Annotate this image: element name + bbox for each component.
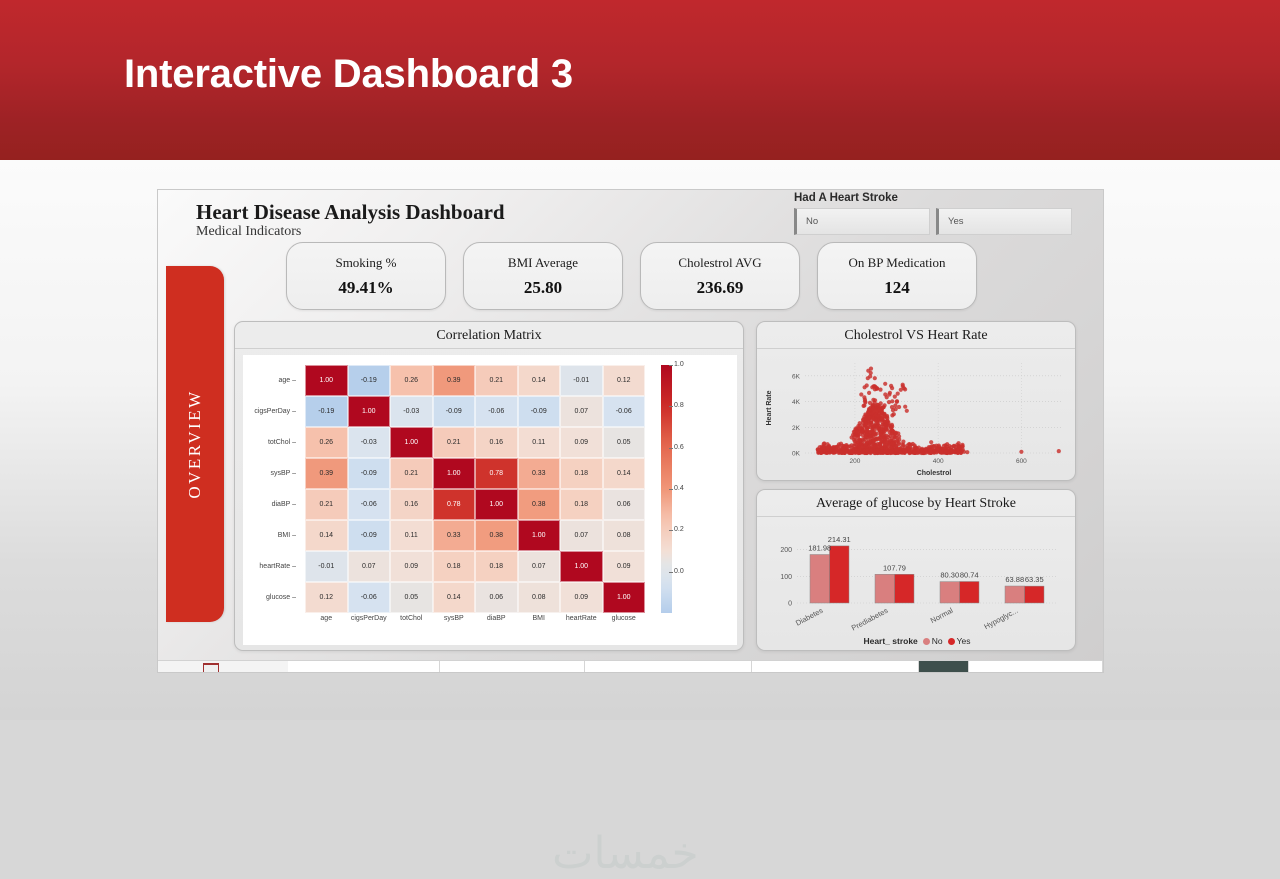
bar-data-label: 63.35	[1025, 575, 1044, 584]
heatmap-cell[interactable]: 0.14	[433, 582, 476, 613]
kpi-label: On BP Medication	[848, 255, 945, 271]
heatmap-cell[interactable]: 0.08	[518, 582, 561, 613]
page-tab[interactable]	[440, 661, 585, 672]
slide-title: Interactive Dashboard 3	[124, 52, 573, 97]
bar-y-tick: 100	[780, 574, 792, 581]
heatmap-cell[interactable]: 0.11	[390, 520, 433, 551]
bar-rect[interactable]	[1005, 586, 1025, 603]
heatmap-cell[interactable]: 0.05	[603, 427, 646, 458]
legend-label: Yes	[957, 636, 971, 646]
kpi-value: 124	[884, 278, 910, 298]
scatter-point	[905, 409, 909, 413]
heatmap-cell[interactable]: -0.09	[348, 520, 391, 551]
scatter-point	[863, 445, 867, 449]
bar-data-label: 80.74	[960, 570, 979, 579]
heatmap-cell[interactable]: 1.00	[603, 582, 646, 613]
heatmap-x-label: sysBP	[433, 615, 476, 631]
page-tab[interactable]	[288, 661, 440, 672]
colorbar-tick-label: 0.2	[674, 526, 684, 533]
heatmap-cell[interactable]: 0.78	[475, 458, 518, 489]
kpi-value: 25.80	[524, 278, 562, 298]
sidebar-item-label: OVERVIEW	[185, 389, 205, 498]
scatter-point	[879, 401, 883, 405]
scatter-point	[825, 448, 829, 452]
scatter-point	[822, 441, 826, 445]
slicer-option-label: Yes	[948, 216, 964, 227]
powerbi-logo-icon	[158, 661, 288, 672]
heatmap-cell[interactable]: 0.33	[433, 520, 476, 551]
scatter-point	[831, 445, 835, 449]
scatter-point	[871, 410, 875, 414]
scatter-point	[913, 450, 917, 454]
scatter-point	[859, 392, 863, 396]
heatmap-y-label: diaBP –	[243, 489, 301, 520]
scatter-point	[858, 446, 862, 450]
heatmap-cell[interactable]: -0.19	[305, 396, 348, 427]
scatter-point	[868, 401, 872, 405]
kpi-card-cholestrol[interactable]: Cholestrol AVG 236.69	[640, 242, 800, 310]
scatter-point	[929, 448, 933, 452]
bar-rect[interactable]	[875, 574, 895, 603]
scatter-point	[835, 445, 839, 449]
heatmap-cell[interactable]: 0.18	[475, 551, 518, 582]
scatter-point	[896, 392, 900, 396]
heatmap-cell[interactable]: 0.16	[475, 427, 518, 458]
heatmap-x-axis-labels: agecigsPerDaytotCholsysBPdiaBPBMIheartRa…	[305, 615, 645, 631]
slicer-option-no[interactable]: No	[794, 208, 930, 235]
bar-data-label: 107.79	[883, 563, 906, 572]
slicer-button-group: No Yes	[794, 208, 1072, 235]
heatmap-cell[interactable]: 0.16	[390, 489, 433, 520]
scatter-point	[864, 422, 868, 426]
scatter-plot: 0K2K4K6K200400600CholestrolHeart Rate	[757, 349, 1076, 481]
heatmap-cell[interactable]: 0.26	[305, 427, 348, 458]
scatter-point	[839, 442, 843, 446]
heatmap-cell[interactable]: 0.09	[390, 551, 433, 582]
scatter-point	[883, 436, 887, 440]
bar-rect[interactable]	[940, 582, 960, 603]
heatmap-cell[interactable]: -0.09	[348, 458, 391, 489]
legend-entry-no[interactable]: No	[923, 636, 943, 646]
heatmap-x-label: age	[305, 615, 348, 631]
bar-rect[interactable]	[960, 582, 980, 604]
page-tab[interactable]	[969, 661, 1103, 672]
page-tab[interactable]	[585, 661, 752, 672]
scatter-point	[861, 417, 865, 421]
heatmap-cell[interactable]: 1.00	[433, 458, 476, 489]
scatter-point	[873, 387, 877, 391]
sidebar-item-overview[interactable]: OVERVIEW	[166, 266, 224, 622]
scatter-y-tick: 0K	[792, 451, 801, 458]
heatmap-y-axis-labels: age –cigsPerDay –totChol –sysBP –diaBP –…	[243, 365, 301, 613]
scatter-x-tick: 600	[1016, 458, 1027, 465]
heatmap-cell[interactable]: 0.12	[603, 365, 646, 396]
scatter-point	[890, 399, 894, 403]
heatmap-cell[interactable]: 0.06	[603, 489, 646, 520]
scatter-point	[865, 383, 869, 387]
scatter-point	[952, 444, 956, 448]
slide-header-banner: Interactive Dashboard 3	[0, 0, 1280, 160]
scatter-point	[890, 413, 894, 417]
scatter-x-tick: 200	[850, 458, 861, 465]
powerbi-page-tabstrip	[158, 660, 1103, 672]
scatter-point	[871, 434, 875, 438]
colorbar-tick-label: 1.0	[674, 361, 684, 368]
heatmap-cell[interactable]: 1.00	[305, 365, 348, 396]
bar-category-label: Diabetes	[794, 606, 825, 628]
scatter-point	[894, 407, 898, 411]
scatter-point	[895, 399, 899, 403]
scatter-point	[868, 374, 872, 378]
heatmap-cell[interactable]: -0.06	[348, 489, 391, 520]
heatmap-y-label: glucose –	[243, 582, 301, 613]
scatter-x-axis-title: Cholestrol	[917, 470, 952, 477]
scatter-point	[965, 450, 969, 454]
heatmap-y-label: age –	[243, 365, 301, 396]
scatter-point	[856, 434, 860, 438]
slicer-title: Had A Heart Stroke	[794, 192, 1072, 204]
scatter-point	[858, 424, 862, 428]
scatter-point	[924, 448, 928, 452]
bar-visual[interactable]: Average of glucose by Heart Stroke 01002…	[756, 489, 1076, 651]
scatter-point	[875, 420, 879, 424]
bar-rect[interactable]	[1025, 586, 1045, 603]
slicer-option-yes[interactable]: Yes	[936, 208, 1072, 235]
scatter-y-tick: 2K	[792, 425, 801, 432]
heatmap-cell[interactable]: 1.00	[390, 427, 433, 458]
heatmap-cell[interactable]: 0.05	[390, 582, 433, 613]
heatmap-cell[interactable]: 0.21	[305, 489, 348, 520]
scatter-point	[894, 431, 898, 435]
heatmap-cell[interactable]: 0.39	[433, 365, 476, 396]
scatter-point	[873, 376, 877, 380]
scatter-point	[960, 444, 964, 448]
scatter-point	[903, 449, 907, 453]
legend-swatch-icon	[923, 638, 930, 645]
scatter-point	[863, 435, 867, 439]
scatter-point	[915, 446, 919, 450]
bar-rect[interactable]	[810, 555, 830, 604]
heatmap-cell[interactable]: 0.21	[475, 365, 518, 396]
dashboard-canvas: Heart Disease Analysis Dashboard Medical…	[158, 190, 1103, 662]
scatter-point	[884, 449, 888, 453]
page-tab[interactable]	[752, 661, 919, 672]
scatter-point	[949, 450, 953, 454]
bar-y-tick: 200	[780, 547, 792, 554]
scatter-point	[911, 442, 915, 446]
heatmap-cell[interactable]: 0.18	[560, 458, 603, 489]
heatmap-cell[interactable]: 0.07	[560, 396, 603, 427]
kpi-label: Cholestrol AVG	[678, 255, 761, 271]
heatmap-cell[interactable]: 0.09	[560, 582, 603, 613]
heatmap-cell[interactable]: 0.38	[475, 520, 518, 551]
bar-category-label: Hypoglyc...	[982, 606, 1019, 631]
scatter-point	[880, 416, 884, 420]
heatmap-x-label: cigsPerDay	[348, 615, 391, 631]
bar-plot: 0100200181.98214.31Diabetes107.79Prediab…	[757, 517, 1076, 651]
legend-entry-yes[interactable]: Yes	[948, 636, 971, 646]
dashboard-subtitle: Medical Indicators	[196, 224, 301, 240]
bar-rect[interactable]	[895, 574, 915, 603]
scatter-point	[906, 446, 910, 450]
legend-swatch-icon	[948, 638, 955, 645]
heatmap-cell[interactable]: 0.07	[560, 520, 603, 551]
heatmap-cell[interactable]: -0.01	[560, 365, 603, 396]
scatter-point	[833, 450, 837, 454]
scatter-point	[869, 449, 873, 453]
heatmap-cell[interactable]: 0.14	[518, 365, 561, 396]
heatmap-cell[interactable]: 0.07	[348, 551, 391, 582]
scatter-point	[890, 386, 894, 390]
scatter-point	[895, 447, 899, 451]
heatmap-cell[interactable]: 0.14	[305, 520, 348, 551]
colorbar-tick-label: 0.4	[674, 485, 684, 492]
scatter-point	[917, 450, 921, 454]
heatmap-cell[interactable]: -0.09	[518, 396, 561, 427]
bar-data-label: 214.31	[828, 535, 851, 544]
scatter-point	[867, 391, 871, 395]
heatmap-x-label: totChol	[390, 615, 433, 631]
kpi-label: BMI Average	[508, 255, 578, 271]
scatter-point	[870, 430, 874, 434]
heatmap-cell[interactable]: 1.00	[348, 396, 391, 427]
powerbi-window: Heart Disease Analysis Dashboard Medical…	[158, 190, 1103, 672]
scatter-point	[885, 414, 889, 418]
scatter-x-tick: 400	[933, 458, 944, 465]
scatter-point	[888, 391, 892, 395]
heatmap-cell[interactable]: -0.19	[348, 365, 391, 396]
scatter-point	[890, 451, 894, 455]
scatter-point	[821, 446, 825, 450]
heatmap-cell[interactable]: 0.11	[518, 427, 561, 458]
heatmap-cell[interactable]: 1.00	[518, 520, 561, 551]
kpi-value: 236.69	[697, 278, 744, 298]
scatter-point	[929, 440, 933, 444]
scatter-point	[875, 424, 879, 428]
scatter-y-tick: 6K	[792, 373, 801, 380]
scatter-point	[872, 444, 876, 448]
scatter-point	[869, 425, 873, 429]
colorbar-tick-label: 0.0	[674, 568, 684, 575]
heatmap-cell[interactable]: 1.00	[475, 489, 518, 520]
scatter-point	[1057, 449, 1061, 453]
heatmap-cell[interactable]: 0.78	[433, 489, 476, 520]
bar-category-label: Normal	[929, 606, 955, 625]
colorbar-tick-label: 0.6	[674, 444, 684, 451]
kpi-card-row: Smoking % 49.41% BMI Average 25.80 Chole…	[286, 242, 986, 310]
scatter-point	[881, 423, 885, 427]
bar-data-label: 63.88	[1005, 575, 1024, 584]
heatmap-cell[interactable]: 0.33	[518, 458, 561, 489]
scatter-point	[860, 429, 864, 433]
colorbar-tick-label: 0.8	[674, 402, 684, 409]
heatmap-cell[interactable]: -0.09	[433, 396, 476, 427]
scatter-y-tick: 4K	[792, 399, 801, 406]
heatmap-y-label: BMI –	[243, 520, 301, 551]
kpi-label: Smoking %	[335, 255, 396, 271]
heatmap-cell[interactable]: 0.39	[305, 458, 348, 489]
scatter-point	[878, 429, 882, 433]
heart-stroke-slicer: Had A Heart Stroke No Yes	[794, 192, 1072, 235]
visual-title: Cholestrol VS Heart Rate	[757, 322, 1075, 349]
scatter-point	[931, 444, 935, 448]
heatmap-cell[interactable]: 0.26	[390, 365, 433, 396]
scatter-point	[880, 449, 884, 453]
heatmap-y-label: sysBP –	[243, 458, 301, 489]
bar-category-label: Prediabetes	[850, 606, 890, 633]
legend-title: Heart_ stroke	[863, 636, 917, 646]
scatter-point	[875, 449, 879, 453]
kpi-card-bp-medication[interactable]: On BP Medication 124	[817, 242, 977, 310]
scatter-y-axis-title: Heart Rate	[766, 390, 773, 425]
scatter-point	[853, 429, 857, 433]
visual-title: Average of glucose by Heart Stroke	[757, 490, 1075, 517]
scatter-point	[848, 444, 852, 448]
scatter-point	[883, 382, 887, 386]
heatmap-cell[interactable]: 0.38	[518, 489, 561, 520]
scatter-visual[interactable]: Cholestrol VS Heart Rate 0K2K4K6K2004006…	[756, 321, 1076, 481]
heatmap-cell[interactable]: 0.08	[603, 520, 646, 551]
kpi-card-smoking[interactable]: Smoking % 49.41%	[286, 242, 446, 310]
heatmap-cell[interactable]: 0.06	[475, 582, 518, 613]
heatmap-x-label: BMI	[518, 615, 561, 631]
watermark-text: خمسات	[552, 828, 699, 879]
kpi-value: 49.41%	[338, 278, 393, 298]
scatter-point	[935, 450, 939, 454]
scatter-point	[879, 435, 883, 439]
heatmap-cell[interactable]: 0.18	[560, 489, 603, 520]
scatter-point	[839, 450, 843, 454]
scatter-point	[890, 424, 894, 428]
scatter-point	[874, 405, 878, 409]
scatter-point	[948, 444, 952, 448]
bar-data-label: 80.30	[940, 571, 959, 580]
heatmap-x-label: heartRate	[560, 615, 603, 631]
heatmap-x-label: glucose	[603, 615, 646, 631]
scatter-point	[853, 442, 857, 446]
scatter-point	[864, 413, 868, 417]
heatmap-cell[interactable]: -0.06	[475, 396, 518, 427]
visual-title: Correlation Matrix	[235, 322, 743, 349]
heatmap-y-label: heartRate –	[243, 551, 301, 582]
bar-y-tick: 0	[788, 601, 792, 608]
heatmap-cell[interactable]: -0.03	[348, 427, 391, 458]
scatter-point	[880, 446, 884, 450]
bar-data-label: 181.98	[808, 543, 831, 552]
heatmap-cell[interactable]: -0.06	[603, 396, 646, 427]
heatmap-cell[interactable]: -0.01	[305, 551, 348, 582]
page-tab-active[interactable]	[919, 661, 969, 672]
heatmap-cell[interactable]: 0.18	[433, 551, 476, 582]
scatter-point	[903, 405, 907, 409]
correlation-matrix-visual[interactable]: Correlation Matrix age –cigsPerDay –totC…	[234, 321, 744, 651]
heatmap-cell[interactable]: 0.09	[603, 551, 646, 582]
dashboard-title: Heart Disease Analysis Dashboard	[196, 200, 505, 225]
correlation-heatmap-plot: age –cigsPerDay –totChol –sysBP –diaBP –…	[243, 355, 737, 645]
scatter-point	[890, 405, 894, 409]
bar-legend: Heart_ stroke No Yes	[757, 636, 1076, 646]
scatter-point	[944, 449, 948, 453]
scatter-point	[901, 383, 905, 387]
heatmap-cell[interactable]: -0.06	[348, 582, 391, 613]
heatmap-y-label: cigsPerDay –	[243, 396, 301, 427]
scatter-point	[956, 450, 960, 454]
scatter-point	[901, 440, 905, 444]
legend-label: No	[932, 636, 943, 646]
heatmap-cell[interactable]: 0.21	[433, 427, 476, 458]
heatmap-grid: 1.00-0.190.260.390.210.14-0.010.12-0.191…	[305, 365, 645, 613]
scatter-point	[888, 434, 892, 438]
heatmap-cell[interactable]: -0.03	[390, 396, 433, 427]
kpi-card-bmi[interactable]: BMI Average 25.80	[463, 242, 623, 310]
scatter-point	[816, 448, 820, 452]
heatmap-cell[interactable]: 0.14	[603, 458, 646, 489]
slicer-option-label: No	[806, 216, 818, 227]
scatter-point	[875, 432, 879, 436]
heatmap-cell[interactable]: 0.21	[390, 458, 433, 489]
scatter-point	[852, 438, 856, 442]
heatmap-cell[interactable]: 0.09	[560, 427, 603, 458]
bar-rect[interactable]	[830, 546, 850, 603]
scatter-point	[881, 405, 885, 409]
heatmap-y-label: totChol –	[243, 427, 301, 458]
scatter-point	[907, 450, 911, 454]
scatter-point	[863, 400, 867, 404]
scatter-point	[875, 437, 879, 441]
heatmap-cell[interactable]: 1.00	[560, 551, 603, 582]
scatter-point	[887, 442, 891, 446]
scatter-point	[871, 398, 875, 402]
heatmap-cell[interactable]: 0.07	[518, 551, 561, 582]
scatter-point	[1019, 450, 1023, 454]
scatter-point	[866, 369, 870, 373]
scatter-point	[879, 409, 883, 413]
heatmap-cell[interactable]: 0.12	[305, 582, 348, 613]
heatmap-x-label: diaBP	[475, 615, 518, 631]
heatmap-colorbar-ticks: 1.00.80.60.40.20.0	[674, 365, 714, 613]
scatter-point	[884, 426, 888, 430]
